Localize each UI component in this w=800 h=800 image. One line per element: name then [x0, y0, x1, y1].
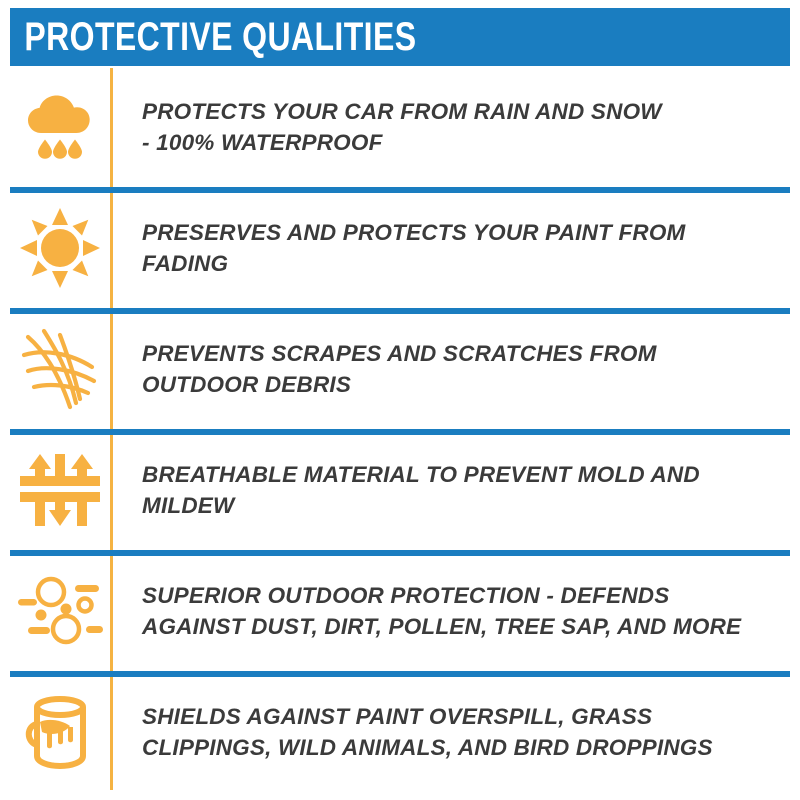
row-divider — [10, 308, 790, 314]
paint-can-icon — [10, 671, 110, 792]
feature-row: PRESERVES AND PROTECTS YOUR PAINT FROM F… — [10, 187, 790, 308]
row-divider — [10, 429, 790, 435]
feature-row: PREVENTS SCRAPES AND SCRATCHES FROM OUTD… — [10, 308, 790, 429]
feature-row: SUPERIOR OUTDOOR PROTECTION - DEFENDS AG… — [10, 550, 790, 671]
rain-cloud-icon — [10, 66, 110, 187]
row-divider — [10, 671, 790, 677]
feature-text-cell: PREVENTS SCRAPES AND SCRATCHES FROM OUTD… — [110, 338, 790, 400]
feature-row: SHIELDS AGAINST PAINT OVERSPILL, GRASS C… — [10, 671, 790, 792]
feature-text-cell: PROTECTS YOUR CAR FROM RAIN AND SNOW - 1… — [110, 96, 790, 158]
scratch-mesh-icon — [10, 308, 110, 429]
dust-particles-icon — [10, 550, 110, 671]
feature-text: PREVENTS SCRAPES AND SCRATCHES FROM OUTD… — [142, 338, 780, 400]
sun-icon — [10, 187, 110, 308]
feature-text-cell: SHIELDS AGAINST PAINT OVERSPILL, GRASS C… — [110, 701, 790, 763]
feature-text: PROTECTS YOUR CAR FROM RAIN AND SNOW - 1… — [142, 96, 780, 158]
row-divider — [10, 187, 790, 193]
feature-text-cell: PRESERVES AND PROTECTS YOUR PAINT FROM F… — [110, 217, 790, 279]
breathable-airflow-arrows-icon — [10, 429, 110, 550]
feature-rows: PROTECTS YOUR CAR FROM RAIN AND SNOW - 1… — [10, 66, 790, 792]
feature-text: SUPERIOR OUTDOOR PROTECTION - DEFENDS AG… — [142, 580, 780, 642]
row-divider — [10, 550, 790, 556]
feature-text: SHIELDS AGAINST PAINT OVERSPILL, GRASS C… — [142, 701, 780, 763]
feature-text-cell: BREATHABLE MATERIAL TO PREVENT MOLD AND … — [110, 459, 790, 521]
feature-row: BREATHABLE MATERIAL TO PREVENT MOLD AND … — [10, 429, 790, 550]
page-title: PROTECTIVE QUALITIES — [10, 17, 416, 57]
feature-text: BREATHABLE MATERIAL TO PREVENT MOLD AND … — [142, 459, 780, 521]
feature-text: PRESERVES AND PROTECTS YOUR PAINT FROM F… — [142, 217, 780, 279]
feature-row: PROTECTS YOUR CAR FROM RAIN AND SNOW - 1… — [10, 66, 790, 187]
protective-qualities-infographic: PROTECTIVE QUALITIES PROTECTS YOUR CAR F… — [0, 0, 800, 800]
feature-text-cell: SUPERIOR OUTDOOR PROTECTION - DEFENDS AG… — [110, 580, 790, 642]
header-bar: PROTECTIVE QUALITIES — [10, 8, 790, 66]
